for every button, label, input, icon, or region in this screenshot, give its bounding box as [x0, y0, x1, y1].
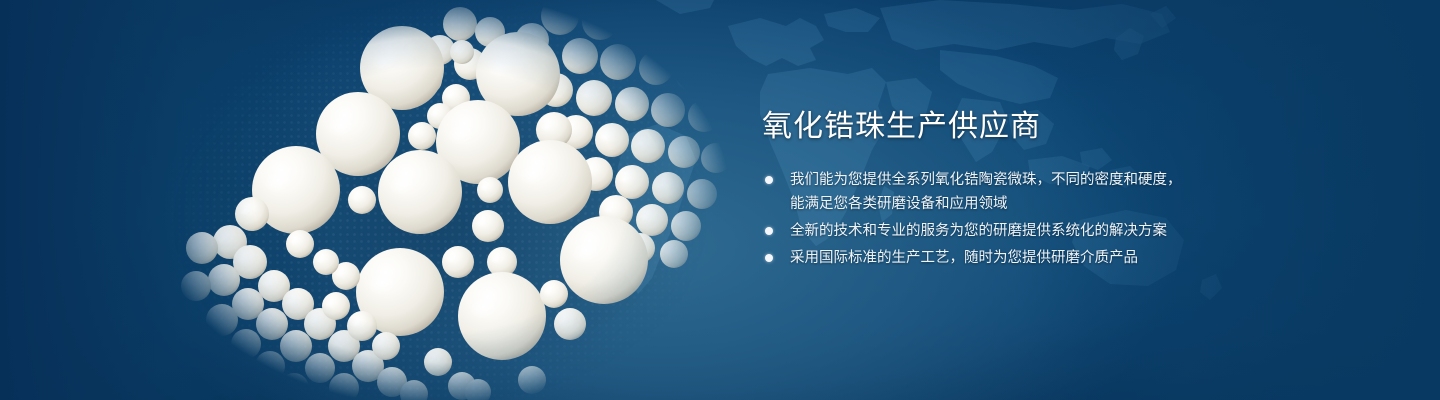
hero-banner: 氧化锆珠生产供应商 我们能为您提供全系列氧化锆陶瓷微珠，不同的密度和硬度， 能满…: [0, 0, 1440, 400]
list-item-line-1: 我们能为您提供全系列氧化锆陶瓷微珠，不同的密度和硬度，: [790, 172, 1182, 188]
list-item: 采用国际标准的生产工艺，随时为您提供研磨介质产品: [762, 246, 1362, 270]
list-item-line-1: 全新的技术和专业的服务为您的研磨提供系统化的解决方案: [790, 223, 1167, 239]
list-item-line-1: 采用国际标准的生产工艺，随时为您提供研磨介质产品: [790, 250, 1138, 266]
bullet-dot-icon: [765, 254, 773, 262]
page-title: 氧化锆珠生产供应商: [762, 108, 1362, 146]
list-item: 我们能为您提供全系列氧化锆陶瓷微珠，不同的密度和硬度， 能满足您各类研磨设备和应…: [762, 168, 1362, 216]
banner-copy: 氧化锆珠生产供应商 我们能为您提供全系列氧化锆陶瓷微珠，不同的密度和硬度， 能满…: [762, 108, 1362, 273]
bullet-dot-icon: [765, 227, 773, 235]
bullet-dot-icon: [765, 176, 773, 184]
zirconia-beads-photo: [140, 0, 740, 400]
list-item-line-2: 能满足您各类研磨设备和应用领域: [790, 192, 1362, 216]
list-item: 全新的技术和专业的服务为您的研磨提供系统化的解决方案: [762, 219, 1362, 243]
feature-list: 我们能为您提供全系列氧化锆陶瓷微珠，不同的密度和硬度， 能满足您各类研磨设备和应…: [762, 168, 1362, 270]
